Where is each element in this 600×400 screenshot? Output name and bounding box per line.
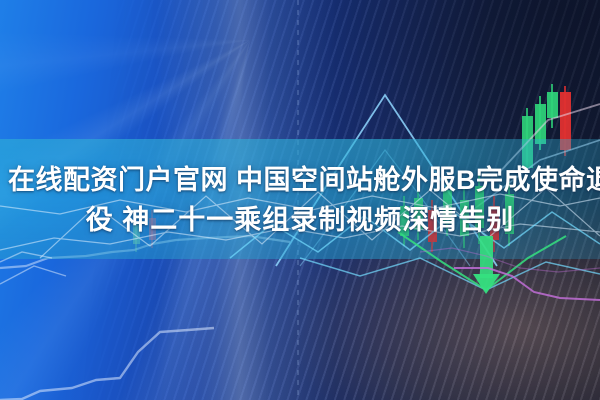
headline-line-2: 役 神二十一乘组录制视频深情告别: [8, 200, 592, 240]
headline-text: 在线配资门户官网 中国空间站舱外服B完成使命退 役 神二十一乘组录制视频深情告别: [0, 160, 600, 240]
green-down-arrow: [398, 232, 566, 294]
headline-line-1: 在线配资门户官网 中国空间站舱外服B完成使命退: [8, 160, 592, 200]
lower-left-rays: [0, 252, 66, 284]
magenta-trend-line: [420, 248, 600, 300]
news-thumbnail-banner: 在线配资门户官网 中国空间站舱外服B完成使命退 役 神二十一乘组录制视频深情告别: [0, 0, 600, 400]
